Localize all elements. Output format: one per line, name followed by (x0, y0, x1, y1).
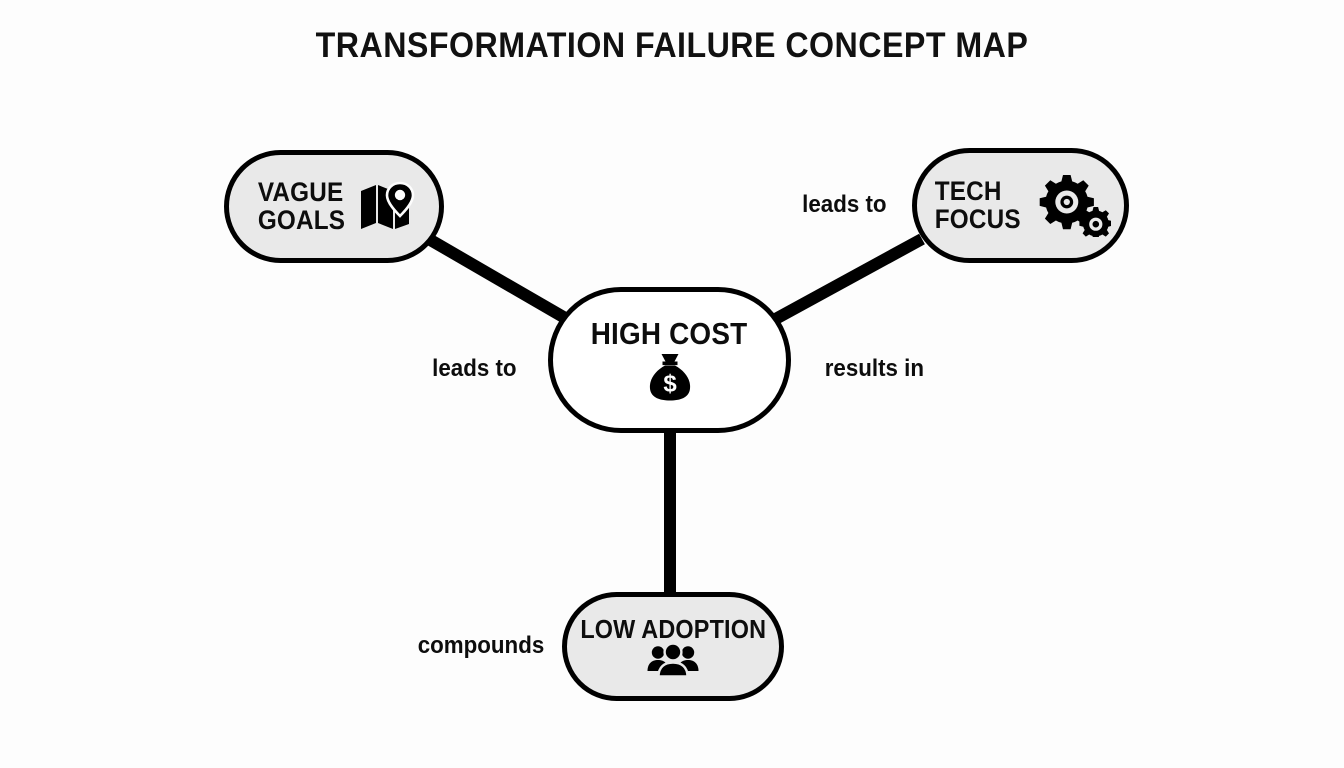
concept-map-canvas: TRANSFORMATION FAILURE CONCEPT MAP VAGUE… (0, 0, 1344, 768)
node-tech-focus[interactable]: TECH FOCUS (912, 148, 1129, 263)
people-group-icon (647, 643, 699, 677)
edge-label-leads-to-vague-goals: leads to (432, 355, 516, 383)
money-bag-icon: $ (645, 352, 695, 402)
node-high-cost-label: HIGH COST (591, 318, 748, 350)
node-high-cost[interactable]: HIGH COST $ (548, 287, 791, 433)
node-vague-goals[interactable]: VAGUE GOALS (224, 150, 444, 263)
map-pin-icon (359, 181, 415, 233)
edge-label-leads-to-tech-focus: leads to (802, 191, 886, 219)
edge-vague-goals-to-high-cost (427, 238, 572, 322)
node-low-adoption[interactable]: LOW ADOPTION (562, 592, 784, 701)
node-low-adoption-label: LOW ADOPTION (580, 616, 766, 643)
edge-label-compounds: compounds (418, 632, 544, 660)
node-vague-goals-label: VAGUE GOALS (258, 179, 345, 234)
edge-label-results-in: results in (825, 355, 924, 383)
node-tech-focus-label: TECH FOCUS (935, 178, 1021, 233)
svg-text:$: $ (663, 370, 677, 397)
gears-icon (1033, 175, 1111, 237)
edge-high-cost-to-tech-focus (770, 239, 922, 322)
